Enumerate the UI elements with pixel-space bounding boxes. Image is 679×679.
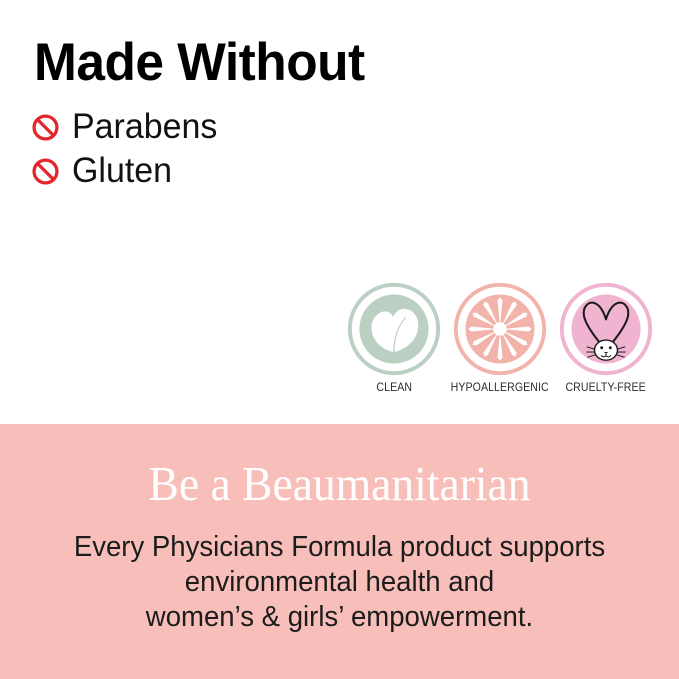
page-title: Made Without	[34, 34, 365, 92]
badge-hypoallergenic: HYPOALLERGENIC	[450, 281, 550, 394]
certification-badges: CLEAN	[344, 281, 656, 394]
made-without-section: Made Without Parabens Gluten	[0, 0, 679, 424]
prohibition-icon	[31, 113, 60, 142]
badge-label-clean: CLEAN	[376, 380, 412, 394]
product-claims-graphic: Made Without Parabens Gluten	[0, 0, 679, 679]
exclusion-label-parabens: Parabens	[72, 108, 217, 146]
badge-clean: CLEAN	[344, 281, 444, 394]
flower-burst-icon	[452, 281, 548, 377]
panel-body-line-1: Every Physicians Formula product support…	[17, 530, 662, 565]
beaumanitarian-panel: Be a Beaumanitarian Every Physicians For…	[0, 424, 679, 679]
exclusion-list: Parabens Gluten	[31, 108, 222, 196]
badge-label-hypoallergenic: HYPOALLERGENIC	[451, 380, 549, 394]
list-item: Parabens	[31, 108, 222, 146]
panel-body-line-3: women’s & girls’ empowerment.	[17, 600, 662, 635]
leaves-icon	[346, 281, 442, 377]
panel-body: Every Physicians Formula product support…	[0, 530, 679, 635]
list-item: Gluten	[31, 152, 222, 190]
panel-title: Be a Beaumanitarian	[24, 456, 655, 512]
panel-body-line-2: environmental health and	[17, 565, 662, 600]
prohibition-icon	[31, 157, 60, 186]
badge-cruelty-free: CRUELTY-FREE	[556, 281, 656, 394]
badge-label-cruelty-free: CRUELTY-FREE	[566, 380, 646, 394]
exclusion-label-gluten: Gluten	[72, 152, 172, 190]
bunny-heart-icon	[558, 281, 654, 377]
